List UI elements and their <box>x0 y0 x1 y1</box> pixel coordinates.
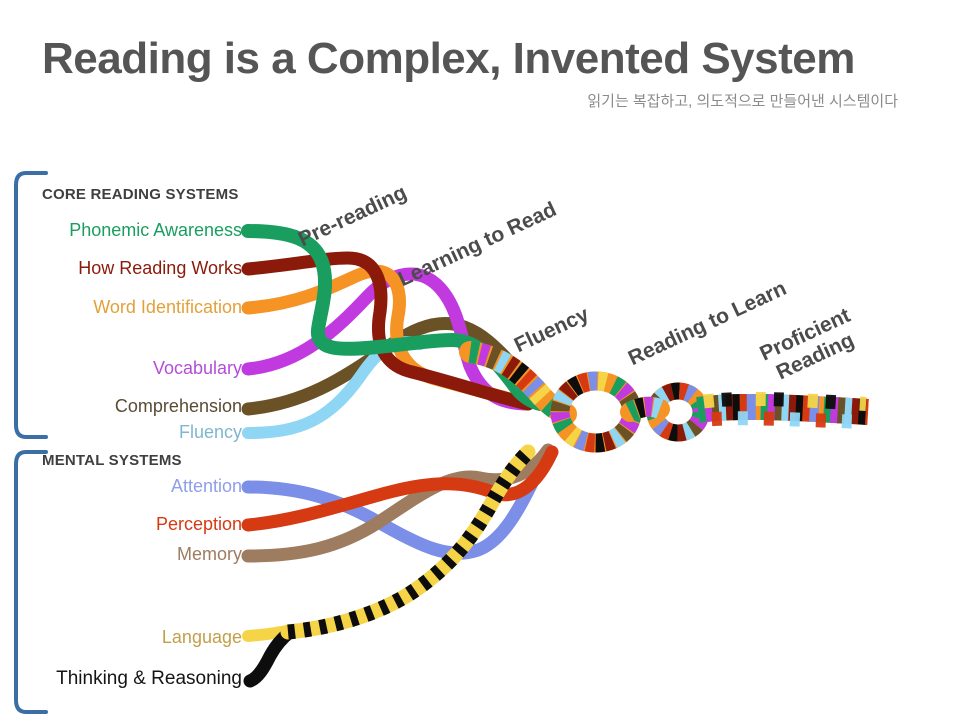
strand-memory <box>248 450 548 556</box>
strand-label-language[interactable]: Language <box>162 628 242 646</box>
braid-lower-trunk <box>288 452 528 632</box>
strand-label-comprehension[interactable]: Comprehension <box>115 397 242 415</box>
braid-main-trunk <box>470 352 566 414</box>
stage-label-proficient-reading[interactable]: Proficient Reading <box>756 304 864 389</box>
strand-label-perception[interactable]: Perception <box>156 515 242 533</box>
strand-label-fluency[interactable]: Fluency <box>179 423 242 441</box>
strand-label-how-reading-works[interactable]: How Reading Works <box>78 259 242 277</box>
strand-perception <box>248 452 552 525</box>
page-subtitle: 읽기는 복잡하고, 의도적으로 만들어낸 시스템이다 <box>42 90 898 111</box>
braid-loop-large <box>560 381 632 443</box>
group-heading-mental: MENTAL SYSTEMS <box>42 452 182 469</box>
strand-label-vocabulary[interactable]: Vocabulary <box>153 359 242 377</box>
page-title: Reading is a Complex, Invented System <box>42 36 922 82</box>
stage-label-pre-reading[interactable]: Pre-reading <box>295 181 411 252</box>
strand-attention <box>248 460 544 553</box>
strand-phonemic-awareness <box>248 231 540 404</box>
diagram-canvas: Reading is a Complex, Invented System 읽기… <box>0 0 960 720</box>
strand-thinking-reasoning <box>250 632 290 681</box>
strand-label-thinking-reasoning[interactable]: Thinking & Reasoning <box>56 669 242 688</box>
strand-label-attention[interactable]: Attention <box>171 477 242 495</box>
strand-label-phonemic-awareness[interactable]: Phonemic Awareness <box>69 221 242 239</box>
braid-loop-small <box>655 391 701 433</box>
strand-word-identification <box>248 271 528 404</box>
strand-label-word-identification[interactable]: Word Identification <box>93 298 242 316</box>
stage-label-fluency-stage[interactable]: Fluency <box>511 303 593 358</box>
strand-language <box>248 630 292 636</box>
braid-tail <box>630 399 868 422</box>
stage-label-learning-to-read[interactable]: Learning to Read <box>395 198 561 292</box>
strand-vocabulary <box>248 274 528 404</box>
bracket-core <box>16 173 46 437</box>
strand-fluency <box>248 342 420 433</box>
group-heading-core: CORE READING SYSTEMS <box>42 186 239 203</box>
strand-how-reading-works <box>248 258 528 404</box>
strand-label-memory[interactable]: Memory <box>177 545 242 563</box>
strand-comprehension <box>248 323 548 409</box>
bracket-mental <box>16 452 46 712</box>
